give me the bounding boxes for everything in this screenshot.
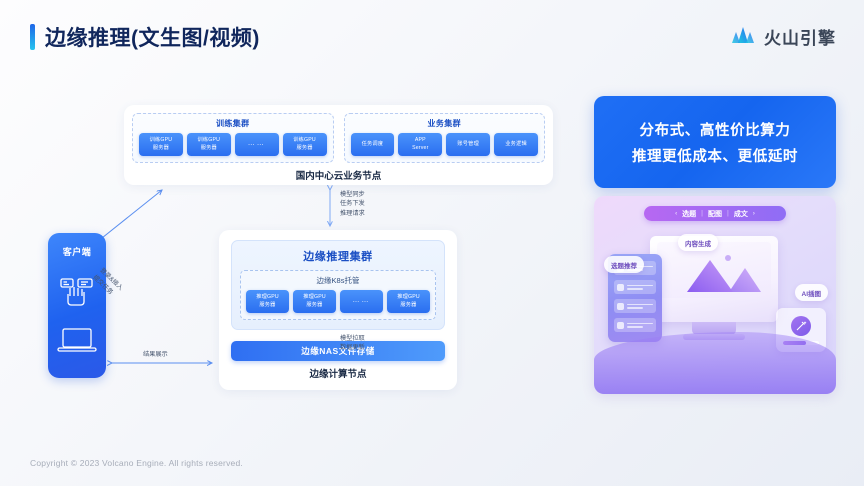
page-header: 边缘推理(文生图/视频) 火山引擎 <box>30 22 836 62</box>
chip-line2: 服务器 <box>153 145 169 153</box>
list-item-lines <box>627 285 653 290</box>
chevron-left-icon[interactable]: ‹ <box>675 211 677 217</box>
chip-line1: …… <box>353 296 371 307</box>
monitor-screen <box>657 242 771 298</box>
business-cluster-title: 业务集群 <box>351 118 539 129</box>
edge-gpu-chip[interactable]: 推理GPU 服务器 <box>246 290 289 313</box>
chip-line1: 推理GPU <box>303 294 326 302</box>
volcano-mountain-icon <box>731 24 755 49</box>
title-accent-bar <box>30 24 35 50</box>
list-item-lines <box>627 304 653 309</box>
chevron-right-icon[interactable]: › <box>753 211 755 217</box>
right-panel: 分布式、高性价比算力 推理更低成本、更低延时 ‹ 选题 | 配图 | 成文 › <box>594 96 836 394</box>
business-cluster: 业务集群 任务调度 APP Server 账号管理 业务逻辑 <box>344 113 546 163</box>
bubble-content-generation: 内容生成 <box>678 234 718 251</box>
edge-k8s-title: 边缘K8s托管 <box>246 275 430 286</box>
connector-label-line2: 数据更新 <box>340 343 365 352</box>
training-cluster-title: 训练集群 <box>139 118 327 129</box>
cloud-node-caption: 国内中心云业务节点 <box>132 168 545 182</box>
chip-line1: 训练GPU <box>293 137 316 145</box>
page-title-group: 边缘推理(文生图/视频) <box>30 22 836 52</box>
chip-line2: 服务器 <box>259 302 275 310</box>
training-chip[interactable]: 训练GPU 服务器 <box>187 133 231 156</box>
architecture-diagram: 训练集群 训练GPU 服务器 训练GPU 服务器 …… 训练GPU <box>0 78 572 418</box>
training-chip-row: 训练GPU 服务器 训练GPU 服务器 …… 训练GPU 服务器 <box>139 133 327 156</box>
chip-line1: 业务逻辑 <box>505 141 527 149</box>
chip-line2: Server <box>412 145 428 153</box>
image-mountain-icon <box>657 242 771 298</box>
pill-separator: | <box>701 210 703 217</box>
illustration-card: ‹ 选题 | 配图 | 成文 › <box>594 196 836 394</box>
pill-item-topic: 选题 <box>682 209 696 219</box>
client-node[interactable]: 客户端 <box>48 233 106 378</box>
business-chip[interactable]: 业务逻辑 <box>494 133 538 156</box>
chip-line1: …… <box>248 139 266 150</box>
list-item <box>614 280 656 294</box>
chip-line1: 训练GPU <box>150 137 173 145</box>
business-chip[interactable]: 账号管理 <box>446 133 490 156</box>
training-chip-ellipsis[interactable]: …… <box>235 133 279 156</box>
business-chip[interactable]: 任务调度 <box>351 133 395 156</box>
connector-label-line1: 模型拉取 <box>340 334 365 343</box>
chip-line2: 服务器 <box>296 145 312 153</box>
edge-nas-storage[interactable]: 边缘NAS文件存储 <box>231 341 445 361</box>
edge-k8s-box: 边缘K8s托管 推理GPU 服务器 推理GPU 服务器 …… 推理GPU <box>240 270 436 320</box>
brand-name: 火山引擎 <box>764 24 836 49</box>
edge-gpu-chip-ellipsis[interactable]: …… <box>340 290 383 313</box>
list-item-lines <box>627 323 653 328</box>
edge-cluster-title: 边缘推理集群 <box>240 248 436 264</box>
chip-line1: 账号管理 <box>457 141 479 149</box>
page-title: 边缘推理(文生图/视频) <box>45 22 260 52</box>
client-edge-connector-label: 结果展示 <box>143 350 168 359</box>
headline-line-1: 分布式、高性价比算力 <box>640 119 791 140</box>
hand-phone-icon <box>57 270 97 315</box>
headline-card: 分布式、高性价比算力 推理更低成本、更低延时 <box>594 96 836 188</box>
decorative-wave <box>594 332 836 394</box>
chip-line2: 服务器 <box>400 302 416 310</box>
list-item-thumb <box>617 303 624 310</box>
footer-copyright: Copyright © 2023 Volcano Engine. All rig… <box>30 458 243 468</box>
magic-wand-icon <box>791 316 811 336</box>
training-cluster: 训练集群 训练GPU 服务器 训练GPU 服务器 …… 训练GPU <box>132 113 334 163</box>
client-label: 客户端 <box>63 245 92 258</box>
edge-gpu-chip[interactable]: 推理GPU 服务器 <box>293 290 336 313</box>
chip-line1: 任务调度 <box>362 141 384 149</box>
pill-item-article: 成文 <box>734 209 748 219</box>
chip-line1: APP <box>415 137 426 145</box>
edge-gpu-chip[interactable]: 推理GPU 服务器 <box>387 290 430 313</box>
brand-logo: 火山引擎 <box>731 24 836 49</box>
edge-node-card: 边缘推理集群 边缘K8s托管 推理GPU 服务器 推理GPU 服务器 …… <box>219 230 457 390</box>
list-item <box>614 318 656 332</box>
list-item-thumb <box>617 284 624 291</box>
business-chip[interactable]: APP Server <box>398 133 442 156</box>
connector-label-line2: 任务下发 <box>340 199 365 208</box>
business-chip-row: 任务调度 APP Server 账号管理 业务逻辑 <box>351 133 539 156</box>
chip-line1: 推理GPU <box>397 294 420 302</box>
training-chip[interactable]: 训练GPU 服务器 <box>139 133 183 156</box>
training-chip[interactable]: 训练GPU 服务器 <box>283 133 327 156</box>
laptop-icon <box>56 325 98 360</box>
connector-label-line1: 模型同步 <box>340 190 365 199</box>
edge-chip-row: 推理GPU 服务器 推理GPU 服务器 …… 推理GPU 服务器 <box>246 290 430 313</box>
cloud-cluster-row: 训练集群 训练GPU 服务器 训练GPU 服务器 …… 训练GPU <box>132 113 545 163</box>
bubble-topic-recommend: 选题推荐 <box>604 256 644 273</box>
connector-label-line3: 推理请求 <box>340 209 365 218</box>
chip-line2: 服务器 <box>306 302 322 310</box>
cloud-edge-connector-label: 模型同步 任务下发 推理请求 <box>340 190 365 218</box>
pill-separator: | <box>727 210 729 217</box>
list-item-thumb <box>617 322 624 329</box>
workflow-pill[interactable]: ‹ 选题 | 配图 | 成文 › <box>644 206 786 221</box>
edge-inference-cluster: 边缘推理集群 边缘K8s托管 推理GPU 服务器 推理GPU 服务器 …… <box>231 240 445 330</box>
cloud-node-card: 训练集群 训练GPU 服务器 训练GPU 服务器 …… 训练GPU <box>124 105 553 185</box>
list-item <box>614 299 656 313</box>
chip-line1: 推理GPU <box>256 294 279 302</box>
chip-line2: 服务器 <box>201 145 217 153</box>
pill-item-image: 配图 <box>708 209 722 219</box>
headline-line-2: 推理更低成本、更低延时 <box>632 145 798 166</box>
chip-line1: 训练GPU <box>198 137 221 145</box>
edge-nas-connector-label: 模型拉取 数据更新 <box>340 334 365 353</box>
edge-node-caption: 边缘计算节点 <box>231 366 445 380</box>
bubble-ai-illustration: AI插图 <box>795 284 829 301</box>
